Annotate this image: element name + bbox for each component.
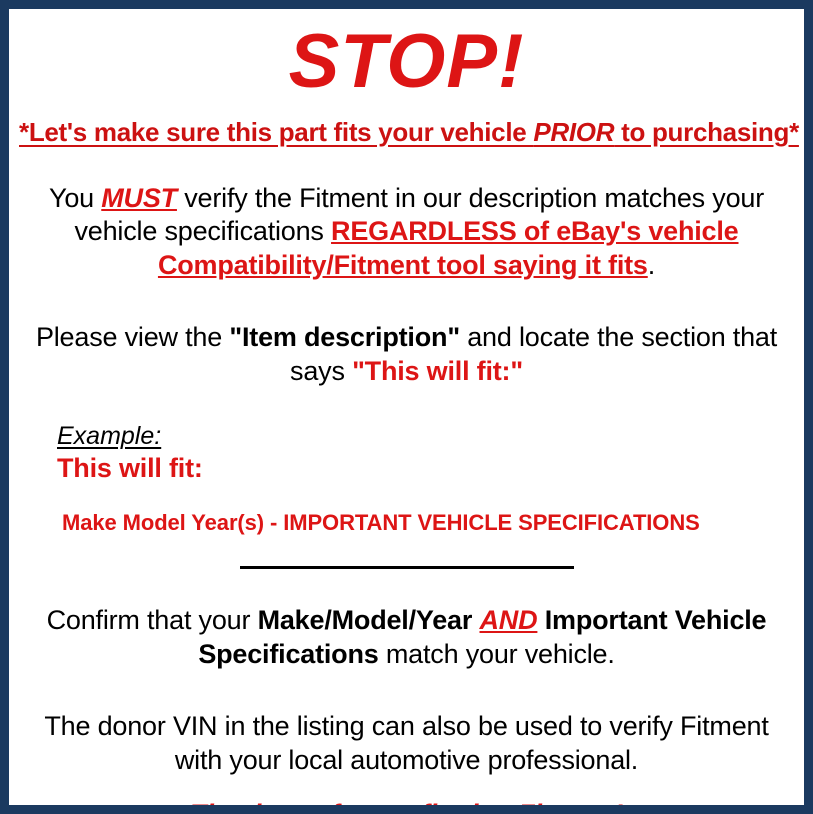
- make-model-year-label: Make/Model/Year: [258, 605, 473, 635]
- thank-you-line: Thank you for confirming Fitment!: [19, 799, 794, 814]
- must-part-1: You: [49, 183, 101, 213]
- confirm-space-2: [537, 605, 544, 635]
- confirm-space-1: [472, 605, 479, 635]
- confirm-part-2: match your vehicle.: [379, 639, 615, 669]
- example-fit-heading: This will fit:: [57, 453, 794, 484]
- tagline-prefix: *Let's make sure this part fits your veh…: [19, 117, 533, 147]
- tagline-suffix: to purchasing*: [614, 117, 799, 147]
- horizontal-divider: [240, 566, 574, 569]
- and-emphasis: AND: [480, 605, 538, 635]
- example-block: Example: This will fit: Make Model Year(…: [19, 422, 794, 536]
- please-part-1: Please view the: [36, 322, 229, 352]
- must-verify-paragraph: You MUST verify the Fitment in our descr…: [19, 182, 794, 283]
- tagline-emphasis: PRIOR: [533, 117, 614, 147]
- must-emphasis: MUST: [101, 183, 177, 213]
- notice-content: STOP! *Let's make sure this part fits yo…: [9, 9, 804, 805]
- confirm-paragraph: Confirm that your Make/Model/Year AND Im…: [19, 604, 794, 672]
- item-description-label: "Item description": [229, 322, 460, 352]
- example-spec-line: Make Model Year(s) - IMPORTANT VEHICLE S…: [62, 510, 794, 536]
- tagline: *Let's make sure this part fits your veh…: [19, 117, 794, 148]
- confirm-part-1: Confirm that your: [47, 605, 258, 635]
- please-view-paragraph: Please view the "Item description" and l…: [19, 321, 794, 389]
- fitment-notice-card: STOP! *Let's make sure this part fits yo…: [0, 0, 813, 814]
- this-will-fit-quote: "This will fit:": [352, 356, 523, 386]
- donor-vin-paragraph: The donor VIN in the listing can also be…: [19, 710, 794, 778]
- divider-container: [19, 558, 794, 576]
- page-title: STOP!: [19, 9, 794, 101]
- must-part-3: .: [648, 250, 655, 280]
- example-label: Example:: [57, 422, 161, 451]
